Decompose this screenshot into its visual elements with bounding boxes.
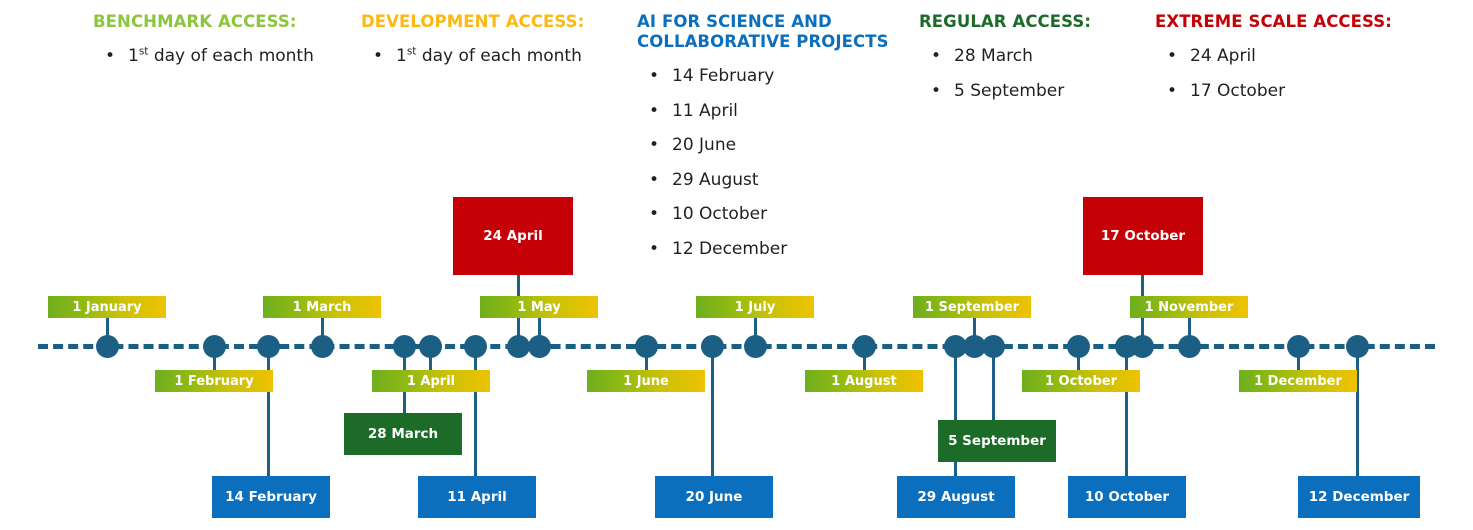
legend-title: BENCHMARK ACCESS: xyxy=(93,12,314,32)
list-item: •29 August xyxy=(637,163,889,198)
legend-item-label: 10 October xyxy=(672,204,767,224)
event-marker-red[interactable]: 24 April xyxy=(453,197,573,275)
timeline-dot[interactable] xyxy=(419,335,442,358)
event-marker-blue[interactable]: 29 August xyxy=(897,476,1015,518)
timeline-dot[interactable] xyxy=(1178,335,1201,358)
month-marker-label: 1 January xyxy=(72,300,141,315)
timeline-dot[interactable] xyxy=(701,335,724,358)
legend-list: •28 March•5 September xyxy=(919,39,1091,108)
month-marker-label: 1 November xyxy=(1145,300,1234,315)
list-item: •20 June xyxy=(637,128,889,163)
timeline-dot[interactable] xyxy=(744,335,767,358)
legend-item-label: 11 April xyxy=(672,101,738,121)
month-marker[interactable]: 1 January xyxy=(48,296,166,318)
timeline-dot[interactable] xyxy=(507,335,530,358)
month-marker-label: 1 August xyxy=(831,374,896,389)
legend-item-number: 1 xyxy=(128,46,139,66)
bullet-icon: • xyxy=(931,39,941,74)
legend-title-line1: AI FOR SCIENCE AND xyxy=(637,12,889,32)
legend-item-number: 1 xyxy=(396,46,407,66)
legend-item-label: 20 June xyxy=(672,135,736,155)
legend-item-text: day of each month xyxy=(416,46,581,66)
event-marker-label: 17 October xyxy=(1101,228,1185,244)
month-marker[interactable]: 1 June xyxy=(587,370,705,392)
event-marker-label: 29 August xyxy=(917,489,994,505)
month-marker[interactable]: 1 April xyxy=(372,370,490,392)
list-item: •5 September xyxy=(919,74,1091,109)
connector-stem xyxy=(711,346,714,476)
legend-column-1: DEVELOPMENT ACCESS:•1st day of each mont… xyxy=(361,12,584,74)
month-marker-label: 1 May xyxy=(517,300,560,315)
list-item: •1st day of each month xyxy=(361,39,584,74)
event-marker-blue[interactable]: 10 October xyxy=(1068,476,1186,518)
bullet-icon: • xyxy=(931,74,941,109)
timeline-dot[interactable] xyxy=(311,335,334,358)
event-marker-label: 28 March xyxy=(368,426,438,442)
connector-stem xyxy=(1356,346,1359,476)
timeline-dot[interactable] xyxy=(528,335,551,358)
timeline-dot[interactable] xyxy=(1287,335,1310,358)
timeline-axis xyxy=(38,344,1435,349)
timeline-dot[interactable] xyxy=(464,335,487,358)
timeline-dot[interactable] xyxy=(203,335,226,358)
timeline-dot[interactable] xyxy=(853,335,876,358)
legend-item-ordinal-suffix: st xyxy=(139,45,149,57)
event-marker-label: 10 October xyxy=(1085,489,1169,505)
month-marker-label: 1 December xyxy=(1254,374,1342,389)
bullet-icon: • xyxy=(649,163,659,198)
event-marker-label: 5 September xyxy=(948,433,1046,449)
legend-column-3: REGULAR ACCESS:•28 March•5 September xyxy=(919,12,1091,108)
bullet-icon: • xyxy=(649,59,659,94)
list-item: •17 October xyxy=(1155,74,1392,109)
list-item: •24 April xyxy=(1155,39,1392,74)
legend-title: REGULAR ACCESS: xyxy=(919,12,1091,32)
list-item: •12 December xyxy=(637,232,889,267)
timeline-dot[interactable] xyxy=(635,335,658,358)
bullet-icon: • xyxy=(649,94,659,129)
event-marker-label: 11 April xyxy=(447,489,507,505)
legend-list: •14 February•11 April•20 June•29 August•… xyxy=(637,59,889,266)
bullet-icon: • xyxy=(1167,74,1177,109)
month-marker[interactable]: 1 November xyxy=(1130,296,1248,318)
month-marker[interactable]: 1 July xyxy=(696,296,814,318)
bullet-icon: • xyxy=(649,128,659,163)
month-marker[interactable]: 1 February xyxy=(155,370,273,392)
timeline-dot[interactable] xyxy=(257,335,280,358)
month-marker[interactable]: 1 March xyxy=(263,296,381,318)
legend-column-4: EXTREME SCALE ACCESS:•24 April•17 Octobe… xyxy=(1155,12,1392,108)
event-marker-blue[interactable]: 12 December xyxy=(1298,476,1420,518)
legend-list: •1st day of each month xyxy=(93,39,314,74)
month-marker[interactable]: 1 December xyxy=(1239,370,1357,392)
legend-list: •1st day of each month xyxy=(361,39,584,74)
legend-title: AI FOR SCIENCE ANDCOLLABORATIVE PROJECTS xyxy=(637,12,889,52)
timeline-dot[interactable] xyxy=(96,335,119,358)
list-item: •14 February xyxy=(637,59,889,94)
legend-item-ordinal-suffix: st xyxy=(407,45,417,57)
month-marker-label: 1 June xyxy=(623,374,669,389)
month-marker-label: 1 October xyxy=(1045,374,1117,389)
legend-item-label: 28 March xyxy=(954,46,1033,66)
bullet-icon: • xyxy=(373,39,383,74)
legend-item-label: 12 December xyxy=(672,239,787,259)
event-marker-label: 14 February xyxy=(225,489,317,505)
timeline-dot[interactable] xyxy=(1067,335,1090,358)
legend-item-text: day of each month xyxy=(148,46,313,66)
connector-stem xyxy=(1125,346,1128,476)
bullet-icon: • xyxy=(105,39,115,74)
month-marker-label: 1 March xyxy=(293,300,352,315)
list-item: •10 October xyxy=(637,197,889,232)
legend-item-label: 17 October xyxy=(1190,81,1285,101)
timeline-dot[interactable] xyxy=(1346,335,1369,358)
legend-item-label: 24 April xyxy=(1190,46,1256,66)
timeline-dot[interactable] xyxy=(1131,335,1154,358)
legend-title: EXTREME SCALE ACCESS: xyxy=(1155,12,1392,32)
month-marker[interactable]: 1 September xyxy=(913,296,1031,318)
event-marker-label: 12 December xyxy=(1309,489,1410,505)
list-item: •11 April xyxy=(637,94,889,129)
legend-item-label: 29 August xyxy=(672,170,759,190)
timeline-dot[interactable] xyxy=(982,335,1005,358)
month-marker[interactable]: 1 October xyxy=(1022,370,1140,392)
event-marker-red[interactable]: 17 October xyxy=(1083,197,1203,275)
month-marker-label: 1 July xyxy=(735,300,776,315)
event-marker-blue[interactable]: 11 April xyxy=(418,476,536,518)
bullet-icon: • xyxy=(1167,39,1177,74)
bullet-icon: • xyxy=(649,232,659,267)
month-marker-label: 1 April xyxy=(407,374,455,389)
month-marker[interactable]: 1 August xyxy=(805,370,923,392)
legend-title: DEVELOPMENT ACCESS: xyxy=(361,12,584,32)
list-item: •1st day of each month xyxy=(93,39,314,74)
event-marker-blue[interactable]: 20 June xyxy=(655,476,773,518)
legend-item-label: 14 February xyxy=(672,66,774,86)
event-marker-label: 20 June xyxy=(686,489,743,505)
connector-stem xyxy=(474,346,477,476)
month-marker-label: 1 February xyxy=(174,374,253,389)
month-marker-label: 1 September xyxy=(925,300,1019,315)
event-marker-blue[interactable]: 14 February xyxy=(212,476,330,518)
timeline-dot[interactable] xyxy=(393,335,416,358)
event-marker-green[interactable]: 5 September xyxy=(938,420,1056,462)
connector-stem xyxy=(267,346,270,476)
legend-column-2: AI FOR SCIENCE ANDCOLLABORATIVE PROJECTS… xyxy=(637,12,889,266)
event-marker-green[interactable]: 28 March xyxy=(344,413,462,455)
legend-item-label: 5 September xyxy=(954,81,1064,101)
legend-list: •24 April•17 October xyxy=(1155,39,1392,108)
month-marker[interactable]: 1 May xyxy=(480,296,598,318)
legend-column-0: BENCHMARK ACCESS:•1st day of each month xyxy=(93,12,314,74)
list-item: •28 March xyxy=(919,39,1091,74)
bullet-icon: • xyxy=(649,197,659,232)
event-marker-label: 24 April xyxy=(483,228,543,244)
legend-title-line2: COLLABORATIVE PROJECTS xyxy=(637,32,889,52)
